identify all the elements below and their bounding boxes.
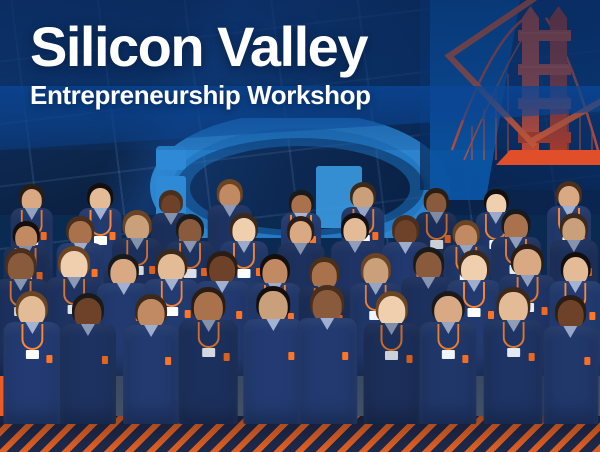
person bbox=[3, 293, 60, 422]
person bbox=[179, 289, 238, 422]
illinois-logo bbox=[463, 355, 469, 363]
person bbox=[60, 295, 116, 422]
person bbox=[363, 293, 420, 422]
name-badge bbox=[25, 350, 38, 359]
person bbox=[297, 287, 357, 422]
person-jacket bbox=[3, 322, 60, 424]
name-badge bbox=[442, 350, 455, 359]
person-jacket bbox=[123, 325, 179, 424]
person bbox=[543, 297, 598, 422]
title-block: Silicon Valley Entrepreneurship Workshop bbox=[30, 18, 570, 110]
illinois-logo bbox=[165, 357, 171, 365]
person-jacket bbox=[60, 324, 116, 424]
illinois-logo bbox=[342, 352, 348, 360]
illinois-logo bbox=[289, 352, 295, 360]
lanyard bbox=[502, 322, 524, 348]
illinois-logo bbox=[406, 355, 412, 363]
illinois-logo bbox=[47, 355, 53, 363]
page-title: Silicon Valley bbox=[30, 18, 570, 75]
name-badge bbox=[385, 351, 398, 360]
person bbox=[420, 293, 477, 422]
person-jacket bbox=[420, 322, 477, 424]
illinois-logo bbox=[529, 353, 535, 361]
person-jacket bbox=[244, 319, 303, 424]
name-badge bbox=[202, 348, 215, 357]
lanyard bbox=[197, 322, 219, 348]
person-jacket bbox=[297, 318, 357, 424]
lanyard bbox=[437, 324, 459, 350]
person bbox=[244, 288, 303, 422]
illinois-logo bbox=[223, 353, 229, 361]
lanyard bbox=[21, 324, 43, 350]
person-jacket bbox=[363, 323, 420, 424]
illinois-logo bbox=[585, 357, 591, 365]
poster-canvas: Silicon Valley Entrepreneurship Workshop bbox=[0, 0, 600, 452]
name-badge bbox=[507, 348, 520, 357]
person-jacket bbox=[179, 320, 238, 424]
page-subtitle: Entrepreneurship Workshop bbox=[30, 81, 570, 110]
lanyard bbox=[381, 325, 403, 351]
person-jacket bbox=[484, 320, 543, 424]
person bbox=[484, 289, 543, 422]
person-jacket bbox=[543, 326, 598, 424]
illinois-logo bbox=[102, 356, 108, 364]
person bbox=[123, 296, 179, 422]
